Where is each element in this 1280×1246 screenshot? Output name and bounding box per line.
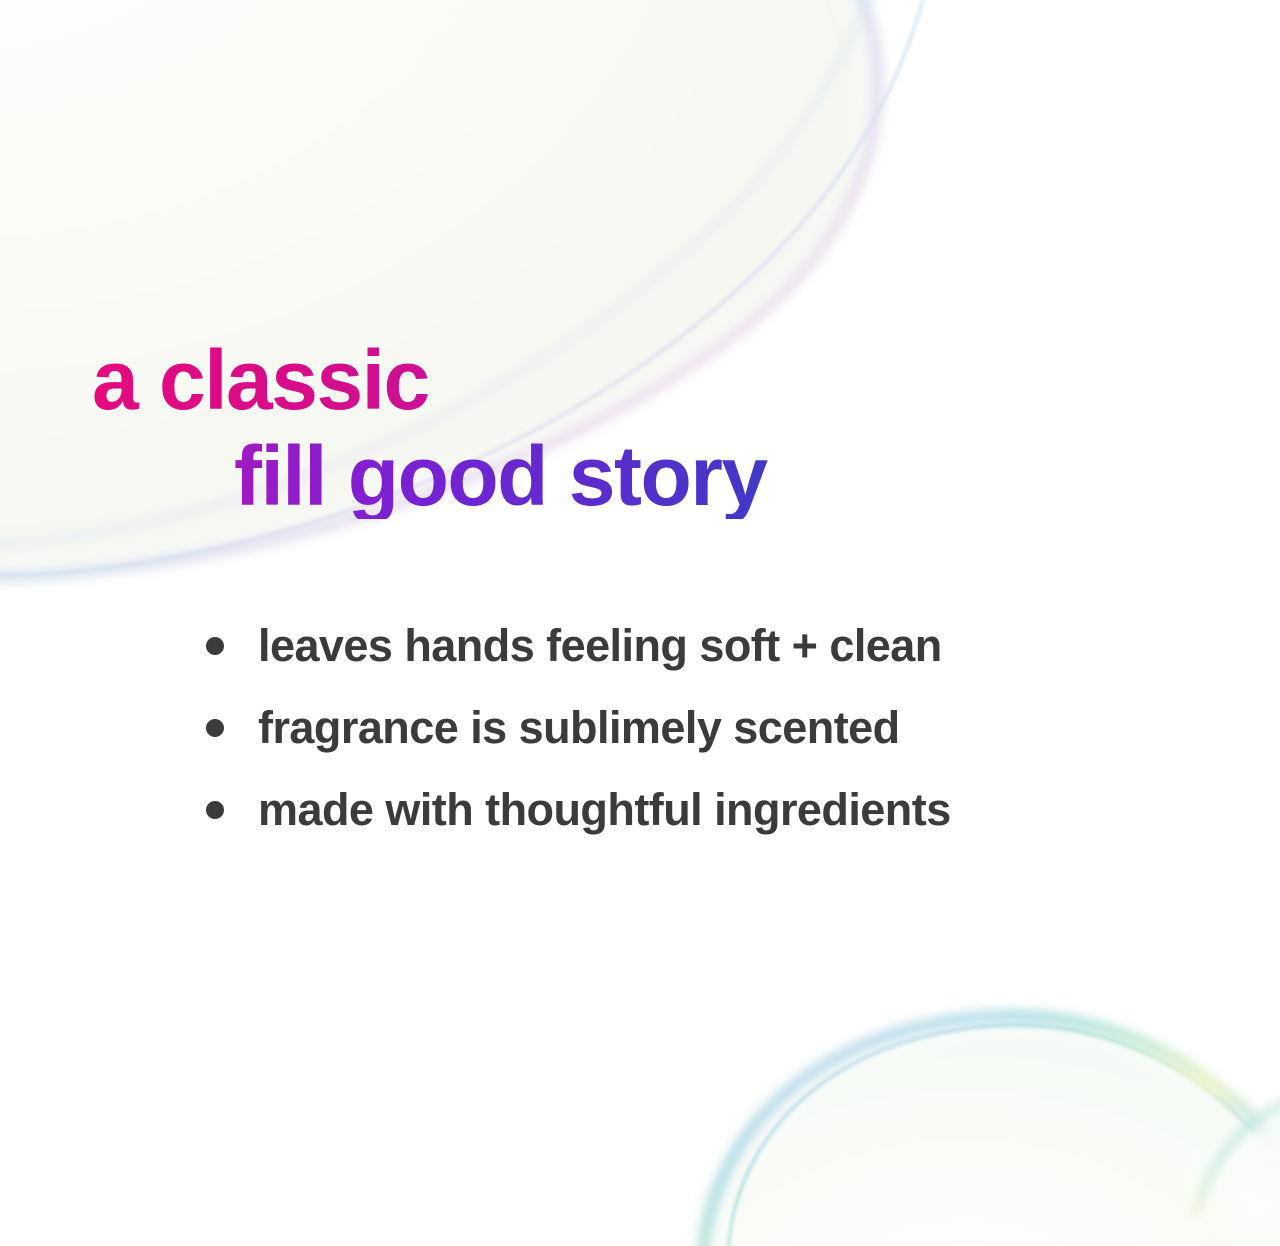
bullet-dot-icon — [206, 637, 224, 655]
list-item-label: fragrance is sublimely scented — [258, 702, 900, 754]
list-item-label: made with thoughtful ingredients — [258, 784, 951, 836]
list-item: made with thoughtful ingredients — [206, 769, 951, 851]
bullet-dot-icon — [206, 719, 224, 737]
list-item: leaves hands feeling soft + clean — [206, 605, 951, 687]
list-item: fragrance is sublimely scented — [206, 687, 951, 769]
bullet-dot-icon — [206, 801, 224, 819]
soap-bubble-bottom-right — [691, 1016, 1280, 1246]
promo-canvas: a classic fill good story leaves hands f… — [0, 0, 1280, 1246]
list-item-label: leaves hands feeling soft + clean — [258, 620, 942, 672]
benefits-list: leaves hands feeling soft + clean fragra… — [206, 605, 951, 851]
headline-block: a classic fill good story — [92, 338, 1192, 519]
headline-line-1: a classic — [92, 338, 1192, 424]
headline-line-2: fill good story — [234, 434, 1192, 520]
